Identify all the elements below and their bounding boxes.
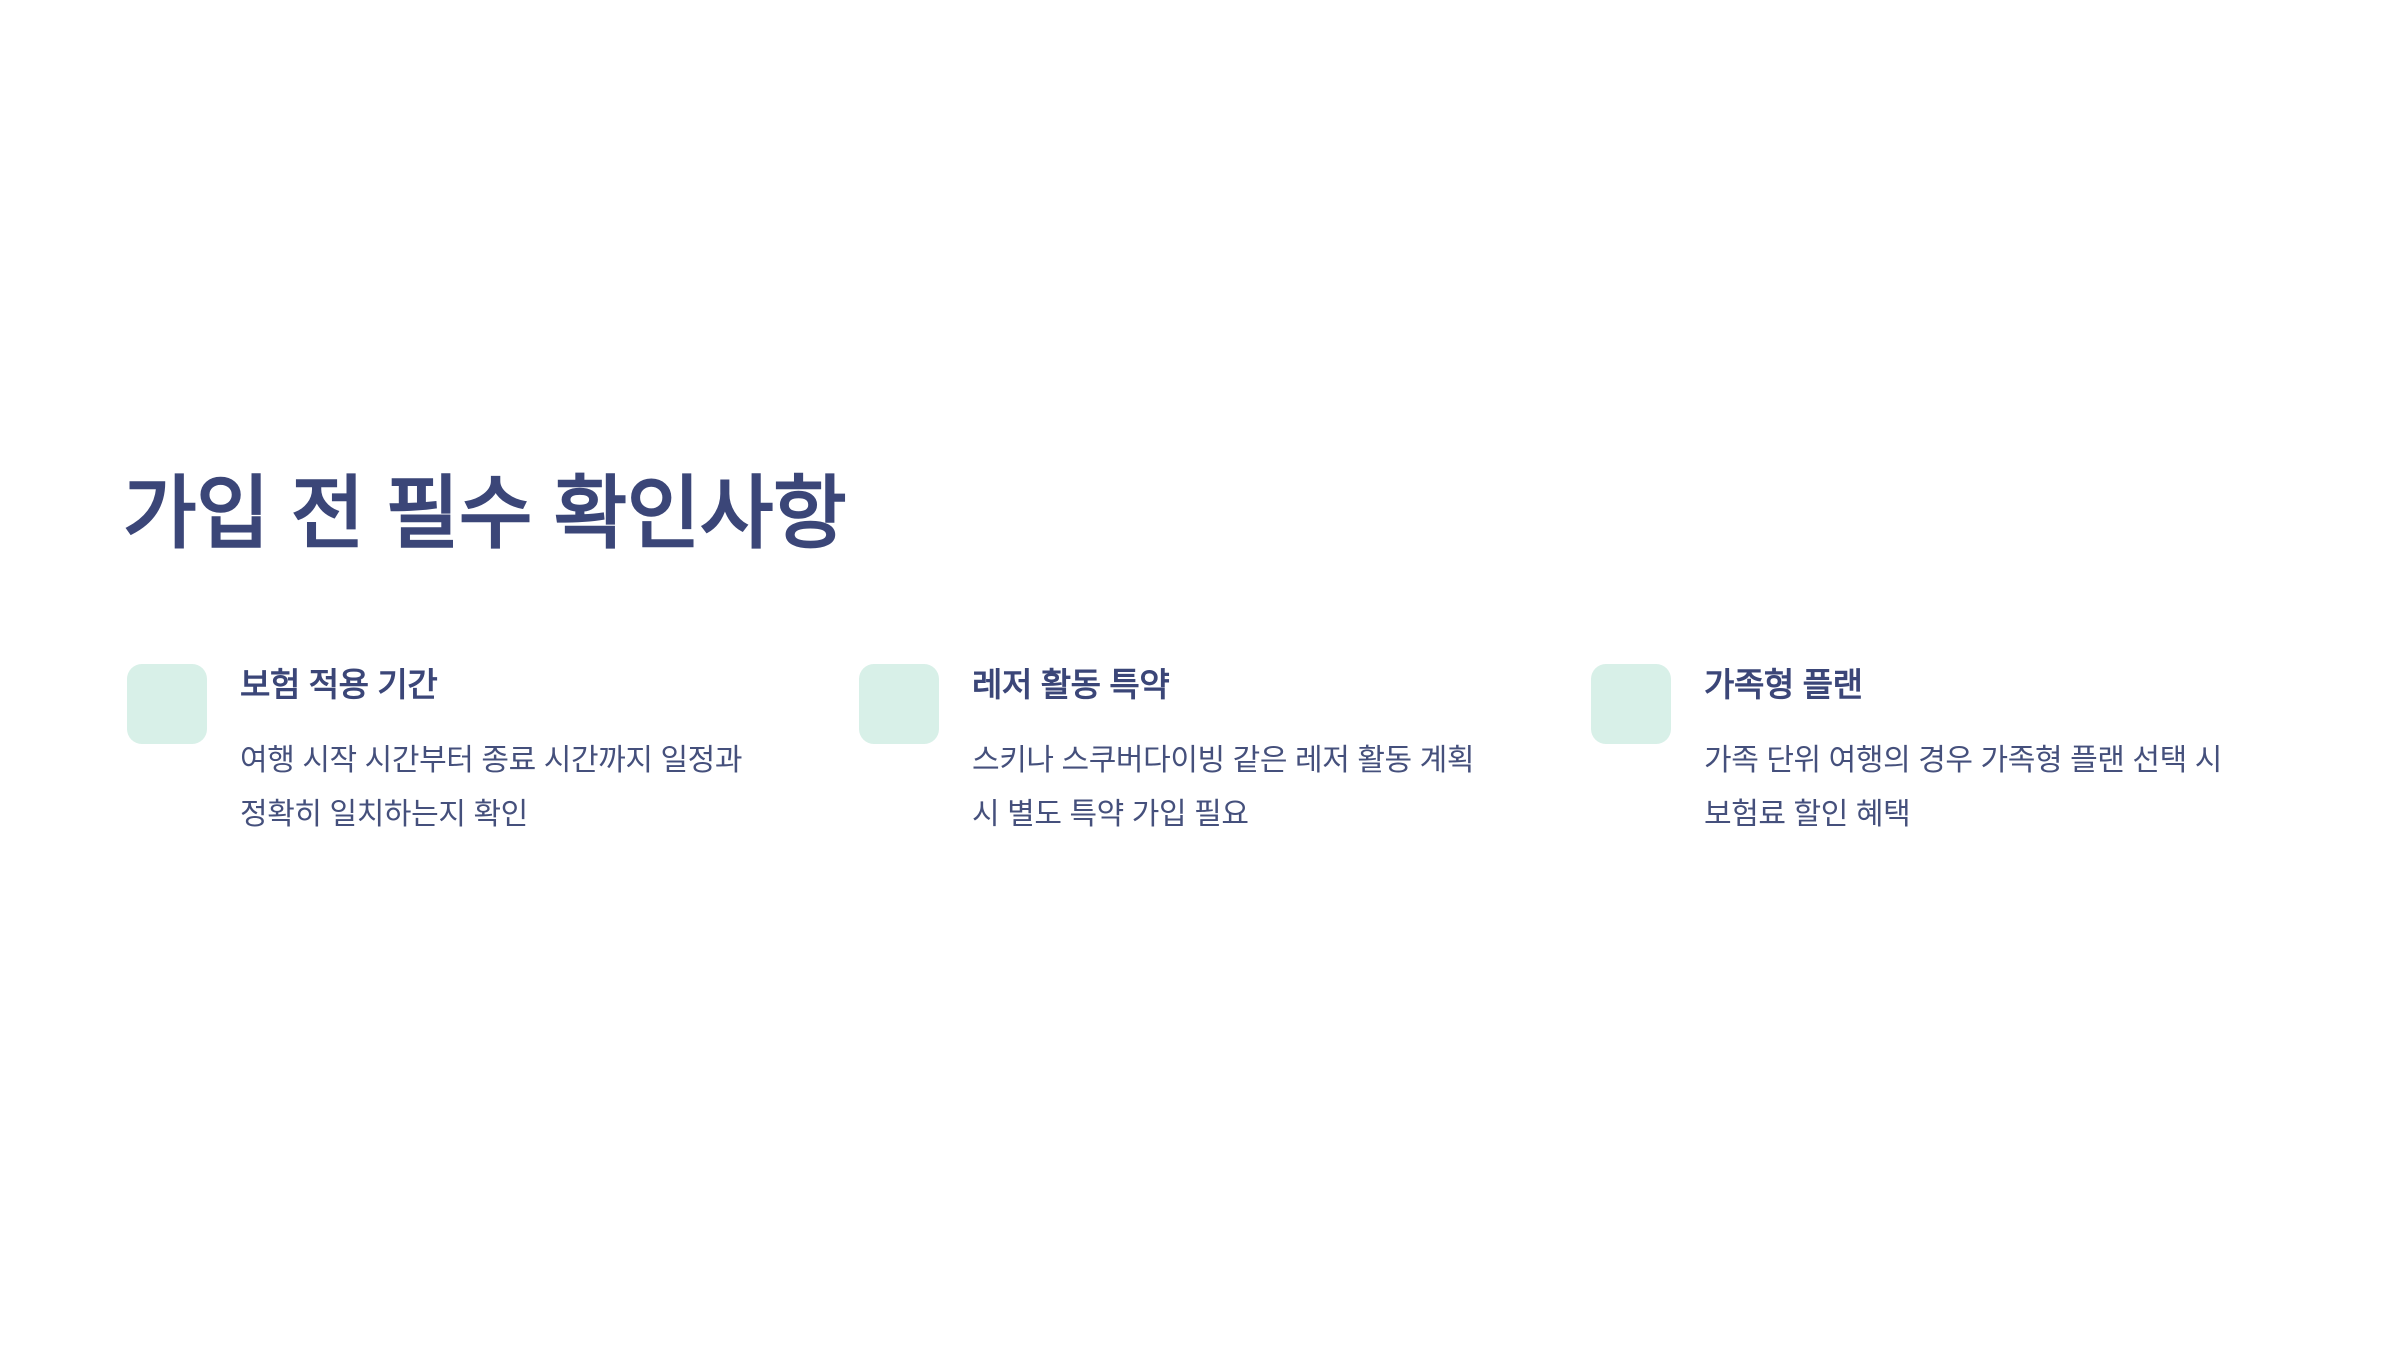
checklist-card-heading: 레저 활동 특약 (972, 664, 1499, 705)
checklist-card: 가족형 플랜 가족 단위 여행의 경우 가족형 플랜 선택 시 보험료 할인 혜… (1591, 664, 2291, 842)
leisure-tile-icon (859, 664, 939, 744)
calendar-tile-icon (127, 664, 207, 744)
checklist-card: 레저 활동 특약 스키나 스쿠버다이빙 같은 레저 활동 계획 시 별도 특약 … (859, 664, 1559, 842)
family-tile-icon (1591, 664, 1671, 744)
checklist-card-body: 가족형 플랜 가족 단위 여행의 경우 가족형 플랜 선택 시 보험료 할인 혜… (1671, 664, 2231, 842)
checklist-card-description: 여행 시작 시간부터 종료 시간까지 일정과 정확히 일치하는지 확인 (240, 705, 767, 842)
checklist-card-description: 가족 단위 여행의 경우 가족형 플랜 선택 시 보험료 할인 혜택 (1704, 705, 2231, 842)
checklist-card-heading: 보험 적용 기간 (240, 664, 767, 705)
checklist-card: 보험 적용 기간 여행 시작 시간부터 종료 시간까지 일정과 정확히 일치하는… (127, 664, 827, 842)
checklist-card-body: 보험 적용 기간 여행 시작 시간부터 종료 시간까지 일정과 정확히 일치하는… (207, 664, 767, 842)
checklist-card-row: 보험 적용 기간 여행 시작 시간부터 종료 시간까지 일정과 정확히 일치하는… (127, 664, 2307, 842)
checklist-card-body: 레저 활동 특약 스키나 스쿠버다이빙 같은 레저 활동 계획 시 별도 특약 … (939, 664, 1499, 842)
checklist-card-description: 스키나 스쿠버다이빙 같은 레저 활동 계획 시 별도 특약 가입 필요 (972, 705, 1499, 842)
page-title: 가입 전 필수 확인사항 (123, 465, 846, 563)
slide-canvas: 가입 전 필수 확인사항 보험 적용 기간 여행 시작 시간부터 종료 시간까지… (0, 0, 2400, 1350)
checklist-card-heading: 가족형 플랜 (1704, 664, 2231, 705)
